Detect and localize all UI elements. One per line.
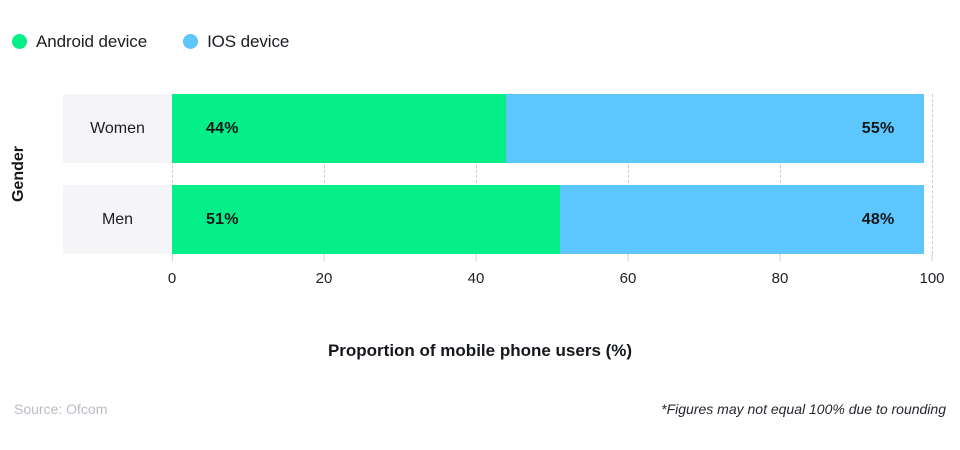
bar-value-android-men: 51% [206, 211, 239, 229]
x-axis-tick-mark [476, 254, 477, 261]
x-axis-tick-label: 0 [168, 270, 176, 287]
gridline [932, 94, 934, 254]
legend-dot-icon [183, 34, 198, 49]
x-axis-title: Proportion of mobile phone users (%) [0, 341, 960, 361]
bar-segment-android-women[interactable]: 44% [172, 94, 506, 163]
x-axis-tick-label: 100 [919, 270, 944, 287]
legend-item-android[interactable]: Android device [12, 32, 147, 51]
x-axis-tick: 60 [620, 254, 637, 287]
x-axis-tick-label: 60 [620, 270, 637, 287]
bar-track-women: 44% 55% [172, 94, 932, 163]
bar-segment-ios-women[interactable]: 55% [506, 94, 924, 163]
x-axis-tick-mark [932, 254, 933, 261]
bar-segment-android-men[interactable]: 51% [172, 185, 560, 254]
bar-row-men: Men 51% 48% [63, 185, 932, 254]
x-axis-tick-label: 80 [772, 270, 789, 287]
chart-legend: Android device IOS device [12, 30, 289, 52]
legend-item-ios[interactable]: IOS device [183, 32, 289, 51]
rounding-note: *Figures may not equal 100% due to round… [661, 401, 946, 417]
x-axis-tick-mark [172, 254, 173, 261]
y-axis-title-text: Gender [10, 146, 28, 202]
legend-label-ios: IOS device [207, 32, 289, 51]
bar-row-women: Women 44% 55% [63, 94, 932, 163]
bar-segment-ios-men[interactable]: 48% [560, 185, 925, 254]
x-axis-tick: 100 [919, 254, 944, 287]
row-label-men: Men [63, 185, 172, 254]
x-axis-tick: 0 [168, 254, 176, 287]
source-caption: Source: Ofcom [14, 401, 107, 417]
bar-value-ios-women: 55% [862, 120, 895, 138]
legend-dot-icon [12, 34, 27, 49]
x-axis-tick: 40 [468, 254, 485, 287]
bar-track-men: 51% 48% [172, 185, 932, 254]
bar-value-android-women: 44% [206, 120, 239, 138]
x-axis: 020406080100 [172, 254, 932, 296]
x-axis-tick-mark [324, 254, 325, 261]
x-axis-tick-mark [780, 254, 781, 261]
x-axis-tick: 80 [772, 254, 789, 287]
plot-area: Women 44% 55% Men 51% 48% [63, 94, 938, 254]
x-axis-tick: 20 [316, 254, 333, 287]
y-axis-title: Gender [6, 104, 32, 244]
x-axis-tick-label: 40 [468, 270, 485, 287]
legend-label-android: Android device [36, 32, 147, 51]
bar-value-ios-men: 48% [862, 211, 895, 229]
x-axis-tick-mark [628, 254, 629, 261]
row-label-women: Women [63, 94, 172, 163]
x-axis-tick-label: 20 [316, 270, 333, 287]
